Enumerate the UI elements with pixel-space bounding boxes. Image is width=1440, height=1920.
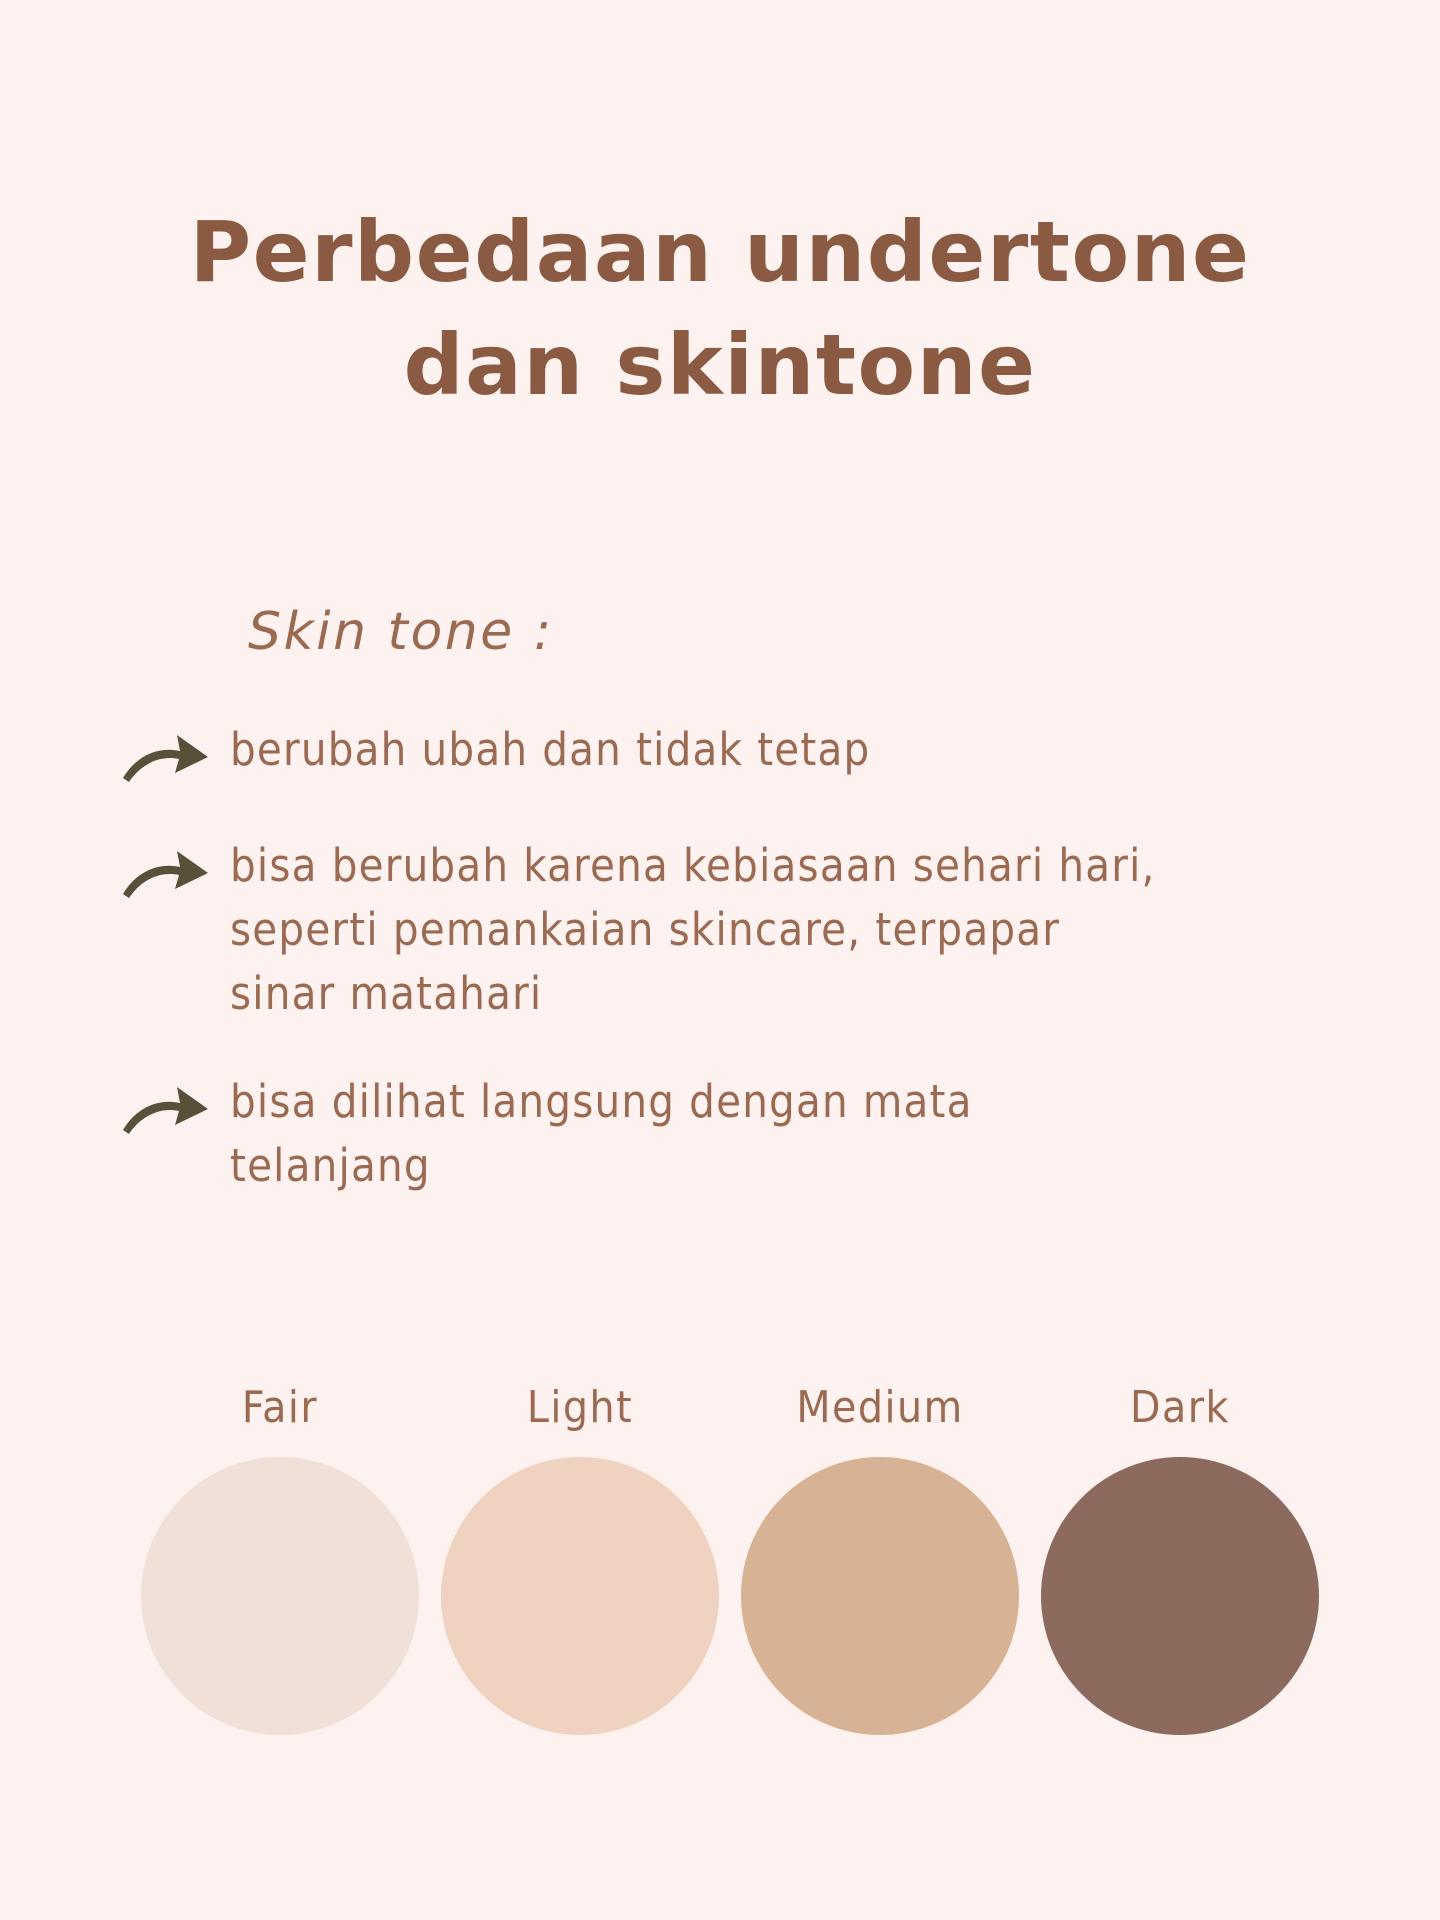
swatch-color-circle bbox=[441, 1457, 719, 1735]
curved-arrow-icon bbox=[120, 842, 212, 906]
curved-arrow-icon bbox=[120, 1078, 212, 1142]
list-item: berubah ubah dan tidak tetap bbox=[120, 718, 1420, 790]
list-item: bisa berubah karena kebiasaan sehari har… bbox=[120, 834, 1420, 1026]
page-title-line-1: Perbedaan undertone bbox=[0, 196, 1440, 309]
swatch-label: Fair bbox=[242, 1382, 318, 1433]
swatch-label: Medium bbox=[796, 1382, 963, 1433]
list-item-text: bisa dilihat langsung dengan mata telanj… bbox=[230, 1070, 1420, 1198]
page-title: Perbedaan undertone dan skintone bbox=[0, 196, 1440, 421]
swatch-light: Light bbox=[430, 1382, 730, 1735]
swatch-label: Dark bbox=[1130, 1382, 1230, 1433]
list-item: bisa dilihat langsung dengan mata telanj… bbox=[120, 1070, 1420, 1198]
swatch-label: Light bbox=[527, 1382, 633, 1433]
section-subtitle: Skin tone : bbox=[248, 602, 554, 662]
skin-tone-swatch-row: Fair Light Medium Dark bbox=[130, 1382, 1420, 1735]
poster-canvas: Perbedaan undertone dan skintone Skin to… bbox=[0, 0, 1440, 1920]
bullet-list: berubah ubah dan tidak tetap bisa beruba… bbox=[120, 718, 1420, 1241]
page-title-line-2: dan skintone bbox=[0, 309, 1440, 422]
curved-arrow-icon bbox=[120, 726, 212, 790]
swatch-color-circle bbox=[141, 1457, 419, 1735]
swatch-color-circle bbox=[1041, 1457, 1319, 1735]
swatch-medium: Medium bbox=[730, 1382, 1030, 1735]
list-item-text: bisa berubah karena kebiasaan sehari har… bbox=[230, 834, 1420, 1026]
list-item-text: berubah ubah dan tidak tetap bbox=[230, 718, 1420, 782]
swatch-dark: Dark bbox=[1030, 1382, 1330, 1735]
swatch-fair: Fair bbox=[130, 1382, 430, 1735]
swatch-color-circle bbox=[741, 1457, 1019, 1735]
